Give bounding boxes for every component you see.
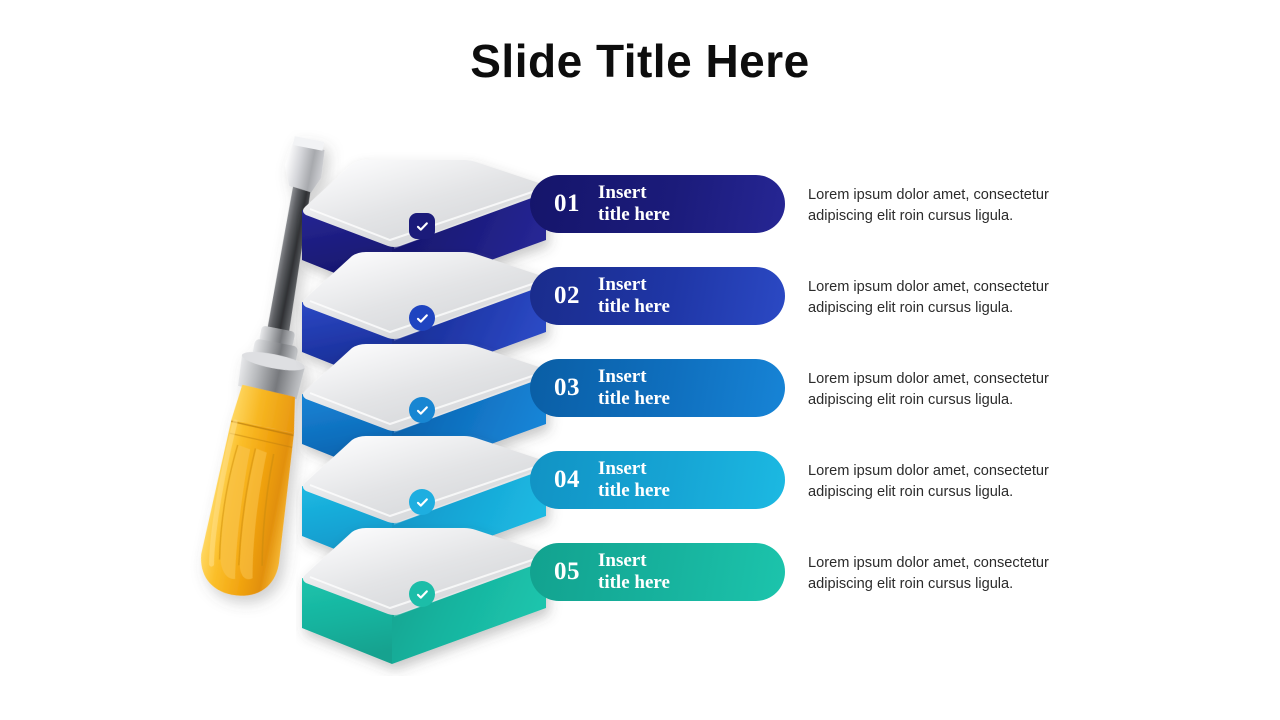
step-title-line2: title here	[598, 572, 670, 593]
step-description: Lorem ipsum dolor amet, consectetur adip…	[808, 369, 1093, 410]
step-pill[interactable]: 03Inserttitle here	[530, 359, 785, 417]
step-description: Lorem ipsum dolor amet, consectetur adip…	[808, 185, 1093, 226]
step-title: Inserttitle here	[598, 366, 670, 411]
step-title: Inserttitle here	[598, 182, 670, 227]
step-title-line2: title here	[598, 296, 670, 317]
check-icon	[409, 397, 435, 423]
step-title-line2: title here	[598, 204, 670, 225]
step-number: 03	[554, 374, 580, 402]
step-title-line1: Insert	[598, 366, 647, 387]
step-title-line2: title here	[598, 388, 670, 409]
step-description: Lorem ipsum dolor amet, consectetur adip…	[808, 553, 1093, 594]
step-title-line1: Insert	[598, 458, 647, 479]
check-icon	[409, 213, 435, 239]
step-title-line1: Insert	[598, 274, 647, 295]
step-title: Inserttitle here	[598, 458, 670, 503]
step-number: 05	[554, 558, 580, 586]
step-title-line1: Insert	[598, 550, 647, 571]
layer-row[interactable]: 05Inserttitle hereLorem ipsum dolor amet…	[0, 0, 1280, 160]
step-title: Inserttitle here	[598, 274, 670, 319]
step-description: Lorem ipsum dolor amet, consectetur adip…	[808, 277, 1093, 318]
step-title-line2: title here	[598, 480, 670, 501]
step-number: 04	[554, 466, 580, 494]
step-title-line1: Insert	[598, 182, 647, 203]
step-pill[interactable]: 04Inserttitle here	[530, 451, 785, 509]
step-title: Inserttitle here	[598, 550, 670, 595]
step-number: 02	[554, 282, 580, 310]
step-pill[interactable]: 05Inserttitle here	[530, 543, 785, 601]
check-icon	[409, 305, 435, 331]
check-icon	[409, 489, 435, 515]
layer-stack: 01Inserttitle hereLorem ipsum dolor amet…	[0, 0, 1280, 720]
step-pill[interactable]: 01Inserttitle here	[530, 175, 785, 233]
step-description: Lorem ipsum dolor amet, consectetur adip…	[808, 461, 1093, 502]
step-number: 01	[554, 190, 580, 218]
step-pill[interactable]: 02Inserttitle here	[530, 267, 785, 325]
check-icon	[409, 581, 435, 607]
